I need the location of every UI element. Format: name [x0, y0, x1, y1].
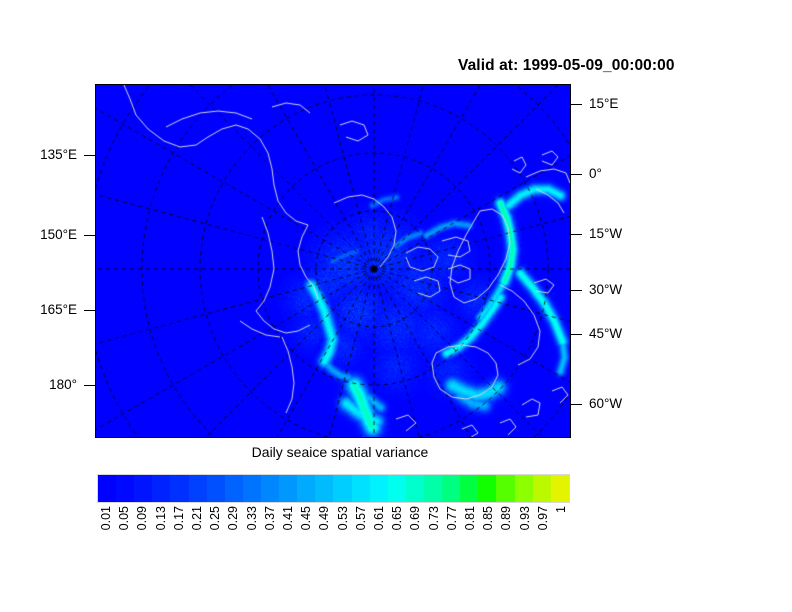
colorbar-tick-12: 0.49 — [318, 506, 331, 530]
colorbar-tick-2: 0.09 — [136, 506, 149, 530]
colorbar-tick-19: 0.77 — [446, 506, 459, 530]
axis-label-right-4: 45°W — [589, 327, 622, 341]
axis-label-left-1: 150°E — [5, 228, 77, 242]
colorbar-tick-23: 0.93 — [518, 506, 531, 530]
colorbar-band-4 — [170, 475, 188, 502]
axis-tick-right-3 — [571, 290, 582, 291]
colorbar-tick-labels: 0.010.050.090.130.170.210.250.290.330.37… — [97, 506, 570, 566]
colorbar-tick-1: 0.05 — [118, 506, 131, 530]
colorbar-band-13 — [333, 475, 351, 502]
colorbar-tick-7: 0.29 — [227, 506, 240, 530]
page-title: Valid at: 1999-05-09_00:00:00 — [458, 57, 675, 75]
axis-label-left-2: 165°E — [5, 303, 77, 317]
colorbar-tick-18: 0.73 — [427, 506, 440, 530]
seaice-variance-heatmap — [96, 85, 570, 437]
colorbar-tick-21: 0.85 — [482, 506, 495, 530]
colorbar-band-12 — [315, 475, 333, 502]
axis-tick-right-5 — [571, 404, 582, 405]
colorbar-band-19 — [442, 475, 460, 502]
colorbar-band-0 — [98, 475, 116, 502]
axis-label-left-0: 135°E — [5, 148, 77, 162]
colorbar-band-23 — [515, 475, 533, 502]
colorbar-tick-25: 1 — [555, 506, 568, 513]
colorbar-tick-22: 0.89 — [500, 506, 513, 530]
colorbar-band-16 — [388, 475, 406, 502]
colorbar-band-5 — [189, 475, 207, 502]
colorbar-tick-20: 0.81 — [464, 506, 477, 530]
colorbar-band-6 — [207, 475, 225, 502]
colorbar-tick-6: 0.25 — [209, 506, 222, 530]
colorbar-band-2 — [134, 475, 152, 502]
axis-tick-left-0 — [84, 155, 95, 156]
colorbar-tick-5: 0.21 — [191, 506, 204, 530]
colorbar-band-14 — [352, 475, 370, 502]
axis-label-right-0: 15°E — [589, 97, 618, 111]
colorbar-tick-0: 0.01 — [100, 506, 113, 530]
colorbar-tick-17: 0.69 — [409, 506, 422, 530]
map-plot-area — [95, 84, 571, 438]
colorbar-band-3 — [152, 475, 170, 502]
colorbar-band-11 — [297, 475, 315, 502]
colorbar-tick-13: 0.53 — [336, 506, 349, 530]
colorbar-tick-9: 0.37 — [264, 506, 277, 530]
colorbar-tick-8: 0.33 — [245, 506, 258, 530]
axis-label-right-2: 15°W — [589, 227, 622, 241]
colorbar-caption: Daily seaice spatial variance — [0, 444, 680, 460]
axis-label-right-3: 30°W — [589, 283, 622, 297]
colorbar-tick-10: 0.41 — [282, 506, 295, 530]
colorbar-band-20 — [460, 475, 478, 502]
axis-tick-right-4 — [571, 334, 582, 335]
colorbar-tick-11: 0.45 — [300, 506, 313, 530]
axis-tick-right-1 — [571, 174, 582, 175]
axis-label-left-3: 180° — [5, 378, 77, 392]
colorbar-tick-24: 0.97 — [536, 506, 549, 530]
colorbar-band-25 — [551, 475, 569, 502]
colorbar-band-9 — [261, 475, 279, 502]
axis-label-right-5: 60°W — [589, 397, 622, 411]
colorbar-band-1 — [116, 475, 134, 502]
axis-tick-left-3 — [84, 385, 95, 386]
colorbar-gradient — [97, 474, 570, 503]
colorbar-band-22 — [496, 475, 514, 502]
colorbar-tick-14: 0.57 — [355, 506, 368, 530]
colorbar — [97, 474, 570, 503]
colorbar-band-8 — [243, 475, 261, 502]
colorbar-band-24 — [533, 475, 551, 502]
colorbar-tick-3: 0.13 — [154, 506, 167, 530]
colorbar-band-18 — [424, 475, 442, 502]
colorbar-tick-4: 0.17 — [173, 506, 186, 530]
colorbar-tick-16: 0.65 — [391, 506, 404, 530]
colorbar-band-21 — [478, 475, 496, 502]
axis-tick-right-2 — [571, 234, 582, 235]
colorbar-tick-15: 0.61 — [373, 506, 386, 530]
axis-tick-right-0 — [571, 104, 582, 105]
colorbar-band-17 — [406, 475, 424, 502]
colorbar-band-15 — [370, 475, 388, 502]
colorbar-band-7 — [225, 475, 243, 502]
axis-label-right-1: 0° — [589, 167, 602, 181]
colorbar-band-10 — [279, 475, 297, 502]
axis-tick-left-2 — [84, 310, 95, 311]
axis-tick-left-1 — [84, 235, 95, 236]
